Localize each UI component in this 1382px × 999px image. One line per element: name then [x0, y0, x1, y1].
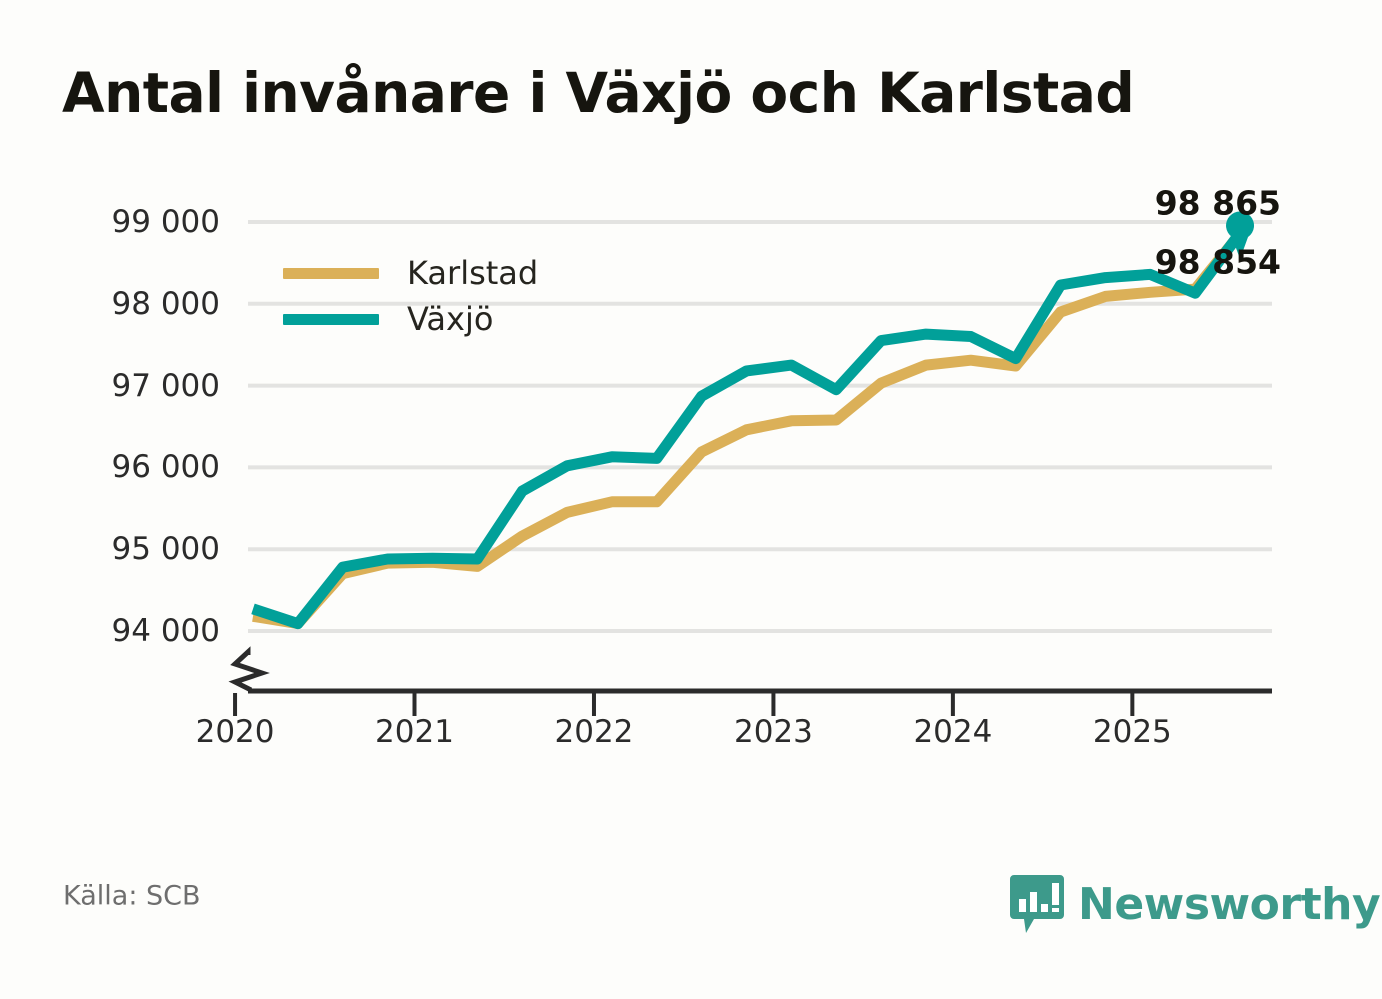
newsworthy-logo[interactable]: Newsworthy	[1010, 874, 1380, 934]
x-axis-ticks	[235, 693, 1132, 716]
legend-swatch-karlstad	[283, 268, 379, 279]
x-tick-label: 2021	[375, 714, 454, 750]
legend-label-vaxjo: Växjö	[407, 300, 493, 338]
y-tick-label: 94 000	[80, 613, 220, 649]
x-tick-label: 2024	[913, 714, 992, 750]
x-tick-label: 2022	[555, 714, 634, 750]
karlstad-end-value-label: 98 854	[1155, 243, 1281, 282]
y-tick-label: 99 000	[80, 204, 220, 240]
chart-legend: Karlstad Växjö	[283, 250, 538, 342]
y-axis-labels: 99 00098 00097 00096 00095 00094 000	[80, 0, 220, 999]
x-tick-label: 2023	[734, 714, 813, 750]
source-note: Källa: SCB	[63, 881, 201, 912]
x-tick-label: 2020	[196, 714, 275, 750]
newsworthy-wordmark: Newsworthy	[1078, 879, 1380, 930]
legend-item-vaxjo[interactable]: Växjö	[283, 296, 538, 342]
x-tick-label: 2025	[1093, 714, 1172, 750]
legend-swatch-vaxjo	[283, 314, 379, 325]
bar-chart-speech-bubble-icon	[1010, 875, 1064, 933]
y-tick-label: 97 000	[80, 368, 220, 404]
axis-break-marker	[235, 652, 262, 690]
vaxjo-end-value-label: 98 865	[1155, 184, 1281, 223]
chart-page: Antal invånare i Växjö och Karlstad 99 0…	[0, 0, 1382, 999]
legend-label-karlstad: Karlstad	[407, 254, 538, 292]
y-tick-label: 95 000	[80, 531, 220, 567]
legend-item-karlstad[interactable]: Karlstad	[283, 250, 538, 296]
y-tick-label: 98 000	[80, 286, 220, 322]
y-tick-label: 96 000	[80, 449, 220, 485]
